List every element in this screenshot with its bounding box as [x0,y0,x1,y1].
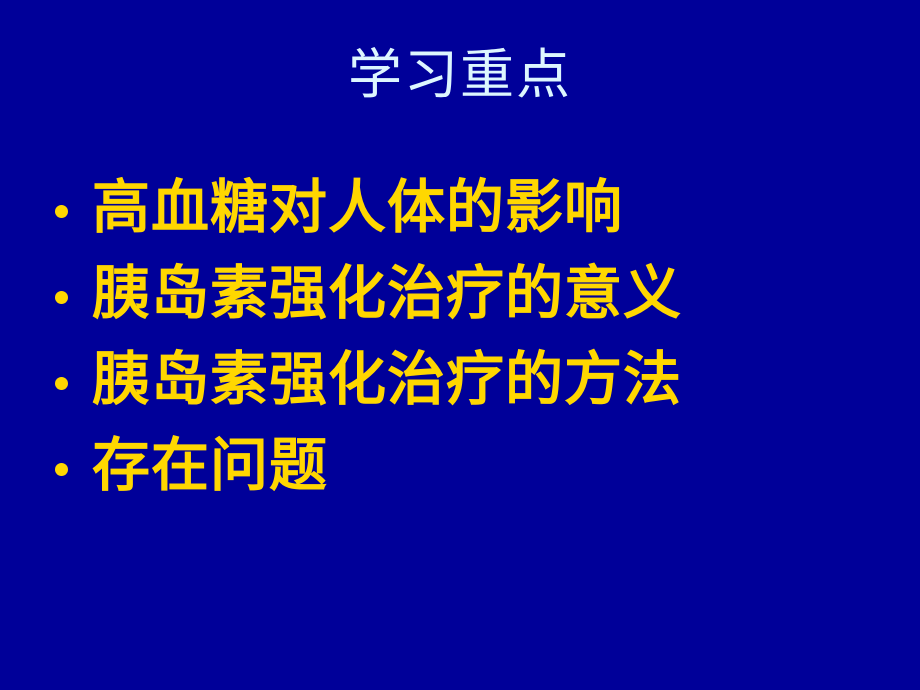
bullet-dot-icon [55,377,68,390]
presentation-slide: 学习重点 高血糖对人体的影响 胰岛素强化治疗的意义 胰岛素强化治疗的方法 存在问… [0,0,920,690]
list-item-label: 高血糖对人体的影响 [92,166,623,248]
page-title: 学习重点 [0,44,920,106]
list-item-label: 存在问题 [92,424,328,506]
bullet-list: 高血糖对人体的影响 胰岛素强化治疗的意义 胰岛素强化治疗的方法 存在问题 [48,166,868,510]
list-item[interactable]: 存在问题 [48,424,868,510]
bullet-dot-icon [55,463,68,476]
list-item[interactable]: 高血糖对人体的影响 [48,166,868,252]
bullet-dot-icon [55,205,68,218]
list-item[interactable]: 胰岛素强化治疗的意义 [48,252,868,338]
bullet-dot-icon [55,291,68,304]
list-item-label: 胰岛素强化治疗的方法 [92,338,682,420]
list-item-label: 胰岛素强化治疗的意义 [92,252,682,334]
list-item[interactable]: 胰岛素强化治疗的方法 [48,338,868,424]
